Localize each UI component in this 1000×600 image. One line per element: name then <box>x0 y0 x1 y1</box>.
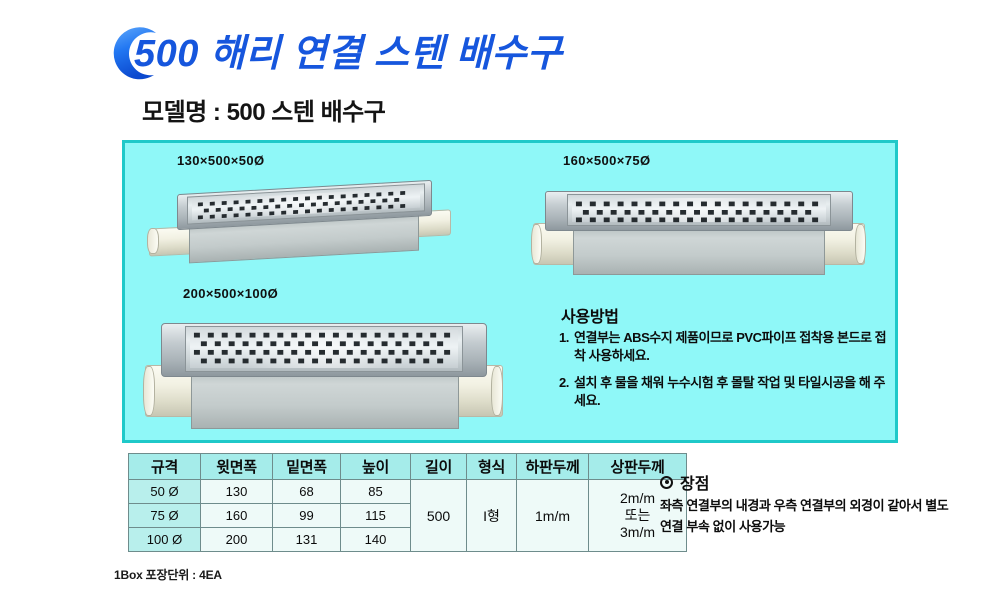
cell-lower-thickness: 1m/m <box>517 480 589 552</box>
column-header-height: 높이 <box>341 454 411 480</box>
cell-type: I형 <box>467 480 517 552</box>
table-row: 50 Ø 130 68 85 500 I형 1m/m 2m/m또는3m/m <box>129 480 687 504</box>
cell-bottom-width: 131 <box>273 528 341 552</box>
product-image-100mm <box>145 311 505 439</box>
cell-size: 50 Ø <box>129 480 201 504</box>
product-image-50mm <box>149 179 449 279</box>
usage-item-text: 연결부는 ABS수지 제품이므로 PVC파이프 접착용 본드로 접착 사용하세요… <box>574 329 889 365</box>
product-spec-sheet: 500 해리 연결 스텐 배수구 모델명 : 500 스텐 배수구 130×50… <box>0 0 1000 600</box>
product-image-75mm <box>533 175 863 285</box>
cell-bottom-width: 68 <box>273 480 341 504</box>
dimension-label-2: 160×500×75Ø <box>563 153 651 168</box>
column-header-top-width: 윗면폭 <box>201 454 273 480</box>
column-header-size: 규격 <box>129 454 201 480</box>
usage-item-number: 1. <box>559 329 574 365</box>
usage-item: 1. 연결부는 ABS수지 제품이므로 PVC파이프 접착용 본드로 접착 사용… <box>559 329 889 365</box>
usage-item: 2. 설치 후 물을 채워 누수시험 후 몰탈 작업 및 타일시공을 해 주세요… <box>559 374 889 410</box>
usage-item-number: 2. <box>559 374 574 410</box>
cell-top-width: 160 <box>201 504 273 528</box>
dimension-label-1: 130×500×50Ø <box>177 153 265 168</box>
column-header-bottom-width: 밑면폭 <box>273 454 341 480</box>
usage-list: 1. 연결부는 ABS수지 제품이므로 PVC파이프 접착용 본드로 접착 사용… <box>559 329 889 419</box>
cell-length: 500 <box>411 480 467 552</box>
cell-top-width: 200 <box>201 528 273 552</box>
column-header-length: 길이 <box>411 454 467 480</box>
merit-heading-label: 장점 <box>680 470 709 494</box>
product-illustration-panel: 130×500×50Ø 160×500×75Ø 200×500×100Ø <box>122 140 898 443</box>
cell-size: 75 Ø <box>129 504 201 528</box>
packaging-note: 1Box 포장단위 : 4EA <box>114 566 222 583</box>
usage-item-text: 설치 후 물을 채워 누수시험 후 몰탈 작업 및 타일시공을 해 주세요. <box>574 374 889 410</box>
filled-circle-icon <box>660 476 673 489</box>
cell-height: 140 <box>341 528 411 552</box>
usage-heading: 사용방법 <box>561 303 619 327</box>
cell-bottom-width: 99 <box>273 504 341 528</box>
table-header-row: 규격 윗면폭 밑면폭 높이 길이 형식 하판두께 상판두께 <box>129 454 687 480</box>
cell-size: 100 Ø <box>129 528 201 552</box>
column-header-lower-thickness: 하판두께 <box>517 454 589 480</box>
page-title: 500 해리 연결 스텐 배수구 <box>134 31 562 77</box>
specification-table: 규격 윗면폭 밑면폭 높이 길이 형식 하판두께 상판두께 50 Ø 130 6… <box>128 453 687 552</box>
merit-description: 좌측 연결부의 내경과 우측 연결부의 외경이 같아서 별도 연결 부속 없이 … <box>660 495 960 537</box>
dimension-label-3: 200×500×100Ø <box>183 286 278 301</box>
cell-height: 85 <box>341 480 411 504</box>
model-name-subtitle: 모델명 : 500 스텐 배수구 <box>142 92 385 127</box>
cell-height: 115 <box>341 504 411 528</box>
column-header-type: 형식 <box>467 454 517 480</box>
cell-top-width: 130 <box>201 480 273 504</box>
merit-heading: 장점 <box>660 470 709 494</box>
